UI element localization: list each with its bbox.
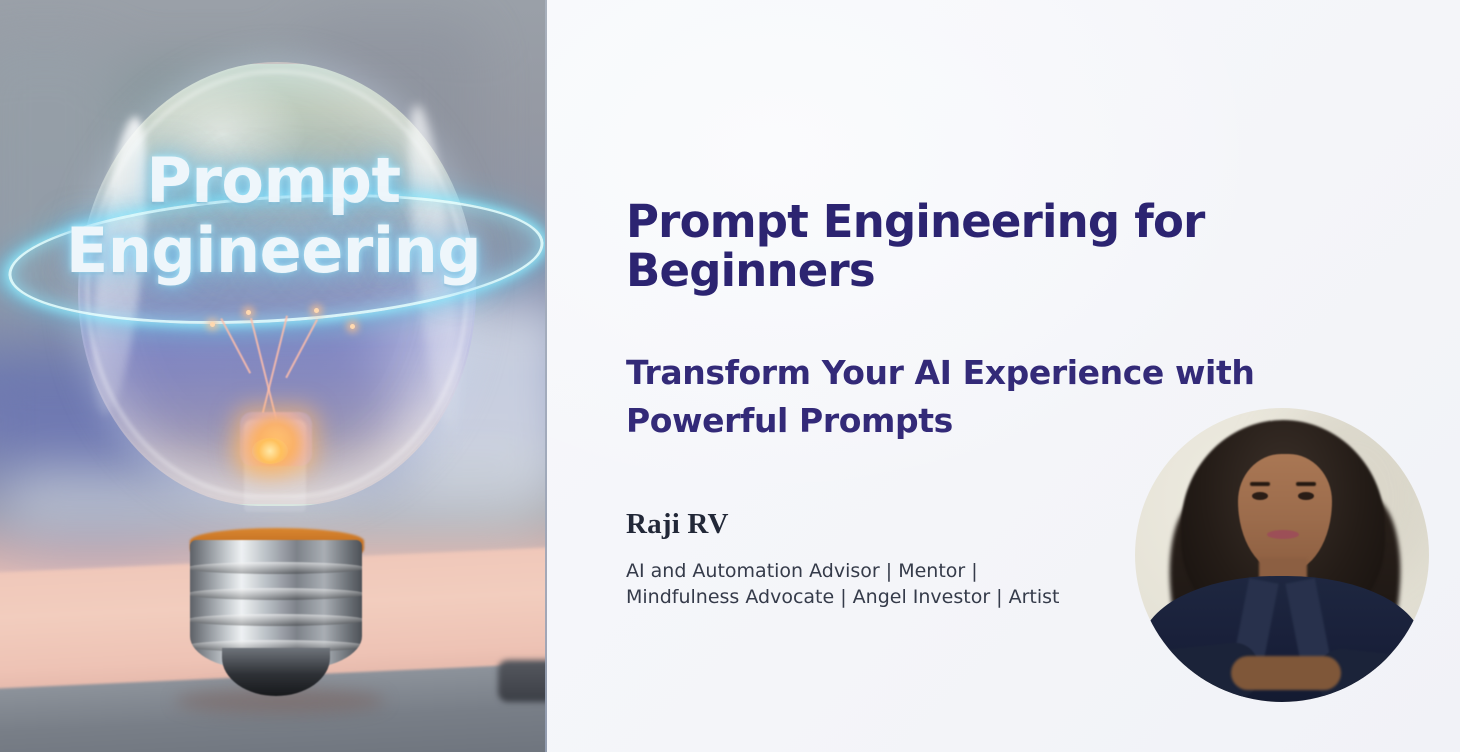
page-title: Prompt Engineering for Beginners (626, 198, 1416, 295)
avatar-eyebrow (1296, 482, 1316, 486)
content-panel: Prompt Engineering for Beginners Transfo… (547, 0, 1460, 752)
desk-object (498, 660, 547, 702)
avatar-eye (1252, 492, 1268, 500)
avatar-lips (1267, 530, 1299, 539)
filament-spark (314, 308, 319, 313)
filament-spark (210, 322, 215, 327)
avatar-eyebrow (1250, 482, 1270, 486)
avatar-eye (1298, 492, 1314, 500)
presenter-name: Raji RV (626, 508, 729, 541)
presenter-credentials: AI and Automation Advisor | Mentor | Min… (626, 558, 1096, 610)
screw-thread (190, 562, 362, 574)
filament-spark (246, 310, 251, 315)
screw-thread (190, 614, 362, 626)
avatar (1135, 408, 1429, 702)
presentation-slide: Prompt Engineering Prompt Engineering fo… (0, 0, 1460, 752)
hero-image-panel: Prompt Engineering (0, 0, 547, 752)
filament-glow (252, 438, 288, 464)
avatar-folded-arms (1231, 656, 1341, 690)
filament-spark (350, 324, 355, 329)
screw-thread (190, 588, 362, 600)
